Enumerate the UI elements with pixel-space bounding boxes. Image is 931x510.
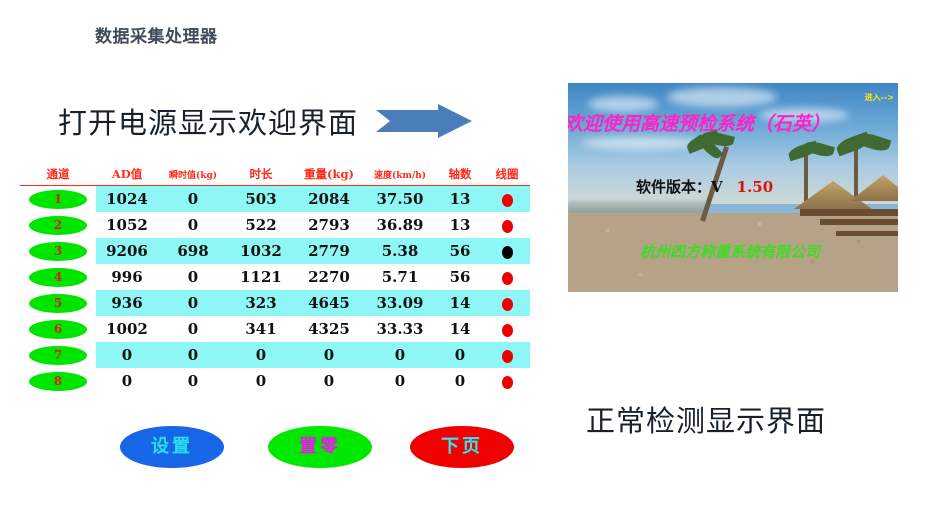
version-label: 软件版本：V bbox=[636, 178, 723, 196]
weight-cell: 4325 bbox=[294, 316, 364, 342]
instant-cell: 0 bbox=[158, 342, 228, 368]
coil-status-dot bbox=[502, 194, 513, 207]
axles-cell: 0 bbox=[436, 368, 484, 394]
axles-cell: 13 bbox=[436, 186, 484, 213]
weight-cell: 2270 bbox=[294, 264, 364, 290]
ad-cell: 1002 bbox=[96, 316, 158, 342]
table-row[interactable]: 110240503208437.5013 bbox=[20, 186, 530, 213]
column-header-channel: 通道 bbox=[20, 166, 96, 186]
channel-cell: 4 bbox=[20, 264, 96, 290]
table-row[interactable]: 59360323464533.0914 bbox=[20, 290, 530, 316]
channel-cell: 8 bbox=[20, 368, 96, 394]
instant-cell: 0 bbox=[158, 368, 228, 394]
coil-status-dot bbox=[502, 220, 513, 233]
company-name: 杭州四方称重系统有限公司 bbox=[640, 241, 820, 262]
coil-status-dot bbox=[502, 350, 513, 363]
coil-status-dot bbox=[502, 324, 513, 337]
ad-cell: 0 bbox=[96, 368, 158, 394]
version-value: 1.50 bbox=[737, 178, 774, 196]
channel-badge[interactable]: 5 bbox=[29, 294, 87, 313]
duration-cell: 503 bbox=[228, 186, 294, 213]
speed-cell: 33.09 bbox=[364, 290, 436, 316]
axles-cell: 56 bbox=[436, 238, 484, 264]
channel-cell: 5 bbox=[20, 290, 96, 316]
instant-cell: 0 bbox=[158, 290, 228, 316]
channel-badge[interactable]: 2 bbox=[29, 216, 87, 235]
coil-cell bbox=[484, 212, 530, 238]
table-row[interactable]: 7000000 bbox=[20, 342, 530, 368]
button-bar: 设置 置零 下页 bbox=[120, 426, 520, 472]
weight-cell: 2793 bbox=[294, 212, 364, 238]
right-arrow-icon bbox=[376, 104, 472, 140]
duration-cell: 341 bbox=[228, 316, 294, 342]
coil-status-dot bbox=[502, 298, 513, 311]
axles-cell: 0 bbox=[436, 342, 484, 368]
column-header-duration: 时长 bbox=[228, 166, 294, 186]
column-header-coil: 线圈 bbox=[484, 166, 530, 186]
ad-cell: 1024 bbox=[96, 186, 158, 213]
speed-cell: 36.89 bbox=[364, 212, 436, 238]
coil-status-dot bbox=[502, 272, 513, 285]
column-header-axles: 轴数 bbox=[436, 166, 484, 186]
coil-cell bbox=[484, 186, 530, 213]
ad-cell: 0 bbox=[96, 342, 158, 368]
hut-deck bbox=[820, 219, 898, 225]
coil-cell bbox=[484, 238, 530, 264]
coil-cell bbox=[484, 290, 530, 316]
coil-cell bbox=[484, 316, 530, 342]
settings-button[interactable]: 设置 bbox=[120, 426, 224, 468]
channel-cell: 7 bbox=[20, 342, 96, 368]
coil-status-dot bbox=[502, 246, 513, 259]
page-title: 数据采集处理器 bbox=[95, 22, 218, 47]
weight-cell: 2084 bbox=[294, 186, 364, 213]
weight-cell: 0 bbox=[294, 342, 364, 368]
ad-cell: 9206 bbox=[96, 238, 158, 264]
speed-cell: 37.50 bbox=[364, 186, 436, 213]
column-header-instant: 瞬时值(kg) bbox=[158, 166, 228, 186]
channel-cell: 6 bbox=[20, 316, 96, 342]
column-header-speed: 速度(km/h) bbox=[364, 166, 436, 186]
palm-trunk-icon bbox=[804, 153, 808, 205]
hut-deck bbox=[800, 209, 898, 216]
channel-badge[interactable]: 7 bbox=[29, 346, 87, 365]
ad-cell: 996 bbox=[96, 264, 158, 290]
channel-badge[interactable]: 1 bbox=[29, 190, 87, 209]
table-header-row: 通道 AD值 瞬时值(kg) 时长 重量(kg) 速度(km/h) 轴数 线圈 bbox=[20, 166, 530, 186]
duration-cell: 1121 bbox=[228, 264, 294, 290]
channel-badge[interactable]: 8 bbox=[29, 372, 87, 391]
table-row[interactable]: 8000000 bbox=[20, 368, 530, 394]
axles-cell: 14 bbox=[436, 290, 484, 316]
weight-cell: 0 bbox=[294, 368, 364, 394]
axles-cell: 56 bbox=[436, 264, 484, 290]
instant-cell: 0 bbox=[158, 186, 228, 213]
instant-cell: 0 bbox=[158, 212, 228, 238]
duration-cell: 323 bbox=[228, 290, 294, 316]
channel-badge[interactable]: 4 bbox=[29, 268, 87, 287]
coil-cell bbox=[484, 368, 530, 394]
speed-cell: 5.71 bbox=[364, 264, 436, 290]
caption-normal-display: 正常检测显示界面 bbox=[586, 398, 826, 440]
instant-cell: 0 bbox=[158, 264, 228, 290]
column-header-ad: AD值 bbox=[96, 166, 158, 186]
axles-cell: 14 bbox=[436, 316, 484, 342]
channel-badge[interactable]: 3 bbox=[29, 242, 87, 261]
channel-badge[interactable]: 6 bbox=[29, 320, 87, 339]
column-header-weight: 重量(kg) bbox=[294, 166, 364, 186]
table-row[interactable]: 39206698103227795.3856 bbox=[20, 238, 530, 264]
instant-cell: 698 bbox=[158, 238, 228, 264]
caption-power-on: 打开电源显示欢迎界面 bbox=[58, 100, 358, 142]
coil-status-dot bbox=[502, 376, 513, 389]
channel-cell: 2 bbox=[20, 212, 96, 238]
duration-cell: 522 bbox=[228, 212, 294, 238]
welcome-title: 欢迎使用高速预检系统（石英） bbox=[568, 109, 830, 136]
welcome-screen-photo: 进入--> 欢迎使用高速预检系统（石英） 软件版本：V1.50 杭州四方称重系统… bbox=[568, 83, 898, 292]
weight-cell: 4645 bbox=[294, 290, 364, 316]
speed-cell: 33.33 bbox=[364, 316, 436, 342]
version-row: 软件版本：V1.50 bbox=[636, 176, 773, 197]
coil-cell bbox=[484, 342, 530, 368]
next-page-button[interactable]: 下页 bbox=[410, 426, 514, 468]
coil-cell bbox=[484, 264, 530, 290]
duration-cell: 0 bbox=[228, 368, 294, 394]
palm-trunk-icon bbox=[854, 147, 858, 203]
data-grid: 通道 AD值 瞬时值(kg) 时长 重量(kg) 速度(km/h) 轴数 线圈 … bbox=[20, 166, 530, 394]
ad-cell: 936 bbox=[96, 290, 158, 316]
speed-cell: 0 bbox=[364, 368, 436, 394]
ad-cell: 1052 bbox=[96, 212, 158, 238]
duration-cell: 0 bbox=[228, 342, 294, 368]
channel-cell: 3 bbox=[20, 238, 96, 264]
speed-cell: 0 bbox=[364, 342, 436, 368]
speed-cell: 5.38 bbox=[364, 238, 436, 264]
instant-cell: 0 bbox=[158, 316, 228, 342]
weight-cell: 2779 bbox=[294, 238, 364, 264]
table-row[interactable]: 610020341432533.3314 bbox=[20, 316, 530, 342]
axles-cell: 13 bbox=[436, 212, 484, 238]
table-row[interactable]: 210520522279336.8913 bbox=[20, 212, 530, 238]
table-row[interactable]: 49960112122705.7156 bbox=[20, 264, 530, 290]
hut-deck bbox=[836, 231, 898, 236]
enter-link[interactable]: 进入--> bbox=[865, 92, 894, 103]
channel-data-table: 通道 AD值 瞬时值(kg) 时长 重量(kg) 速度(km/h) 轴数 线圈 … bbox=[20, 166, 530, 394]
duration-cell: 1032 bbox=[228, 238, 294, 264]
channel-cell: 1 bbox=[20, 186, 96, 213]
zero-button[interactable]: 置零 bbox=[268, 426, 372, 468]
